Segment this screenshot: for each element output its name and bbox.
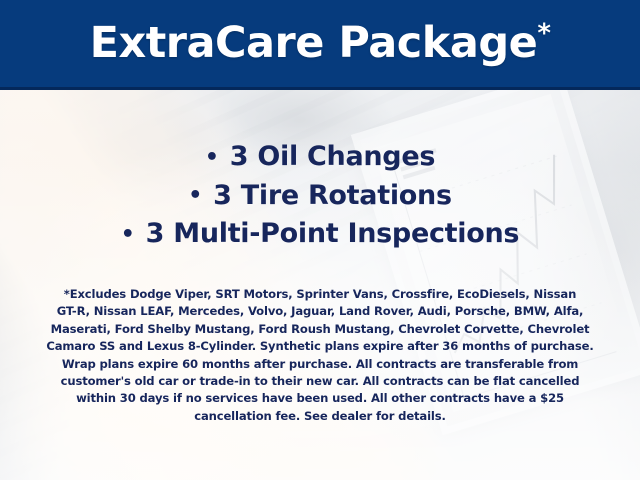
list-item-label: 3 Tire Rotations bbox=[213, 180, 452, 211]
page-title-asterisk: * bbox=[537, 19, 550, 49]
disclaimer-line: GT-R, Nissan LEAF, Mercedes, Volvo, Jagu… bbox=[26, 303, 614, 320]
page-title: ExtraCare Package* bbox=[90, 22, 551, 65]
bullet-dot-icon: • bbox=[121, 222, 137, 247]
list-item: • 3 Tire Rotations bbox=[0, 177, 640, 216]
bullet-dot-icon: • bbox=[205, 145, 221, 170]
list-item-label: 3 Oil Changes bbox=[230, 141, 435, 172]
disclaimer-line: within 30 days if no services have been … bbox=[26, 390, 614, 407]
bullet-dot-icon: • bbox=[188, 183, 204, 208]
benefits-list: • 3 Oil Changes • 3 Tire Rotations • 3 M… bbox=[0, 138, 640, 254]
disclaimer-line: *Excludes Dodge Viper, SRT Motors, Sprin… bbox=[26, 286, 614, 303]
disclaimer-line: Wrap plans expire 60 months after purcha… bbox=[26, 356, 614, 373]
list-item: • 3 Multi-Point Inspections bbox=[0, 215, 640, 254]
list-item: • 3 Oil Changes bbox=[0, 138, 640, 177]
header-banner: ExtraCare Package* bbox=[0, 0, 640, 90]
list-item-label: 3 Multi-Point Inspections bbox=[146, 218, 520, 249]
page-title-text: ExtraCare Package bbox=[90, 18, 538, 68]
disclaimer-line: customer's old car or trade-in to their … bbox=[26, 373, 614, 390]
disclaimer-text: *Excludes Dodge Viper, SRT Motors, Sprin… bbox=[26, 286, 614, 425]
disclaimer-line: cancellation fee. See dealer for details… bbox=[26, 408, 614, 425]
disclaimer-line: Camaro SS and Lexus 8-Cylinder. Syntheti… bbox=[26, 338, 614, 355]
disclaimer-line: Maserati, Ford Shelby Mustang, Ford Rous… bbox=[26, 321, 614, 338]
extracare-package-ad: ExtraCare Package* • 3 Oil Changes • 3 T… bbox=[0, 0, 640, 480]
